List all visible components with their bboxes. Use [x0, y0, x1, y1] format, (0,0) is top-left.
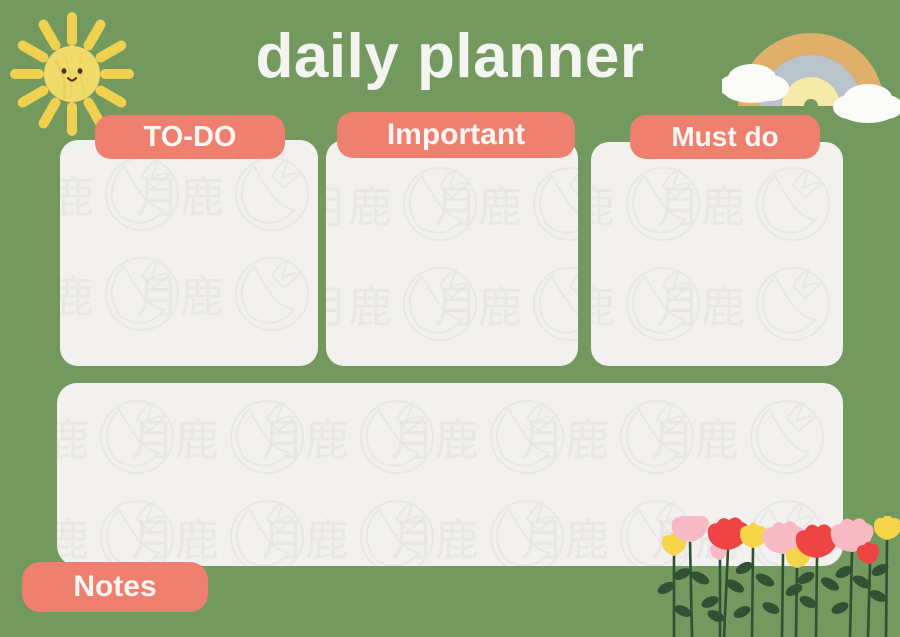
svg-text:月鹿: 月鹿 [57, 416, 89, 465]
svg-text:月鹿: 月鹿 [657, 283, 745, 332]
section-label-important[interactable]: Important [337, 112, 575, 158]
svg-text:月鹿: 月鹿 [391, 516, 479, 565]
svg-text:月鹿: 月鹿 [591, 183, 615, 232]
watermark-layer: 月鹿 月鹿 [326, 140, 578, 366]
section-label-todo[interactable]: TO-DO [95, 115, 285, 159]
svg-text:月鹿: 月鹿 [326, 283, 392, 332]
svg-text:月鹿: 月鹿 [434, 283, 522, 332]
svg-text:月鹿: 月鹿 [57, 516, 89, 565]
svg-text:月鹿: 月鹿 [657, 183, 745, 232]
svg-text:月鹿: 月鹿 [60, 273, 94, 322]
watermark-layer: 月鹿 月鹿 [591, 142, 843, 366]
watermark-layer: 月鹿 月鹿 [60, 140, 318, 366]
svg-text:月鹿: 月鹿 [591, 283, 615, 332]
svg-text:月鹿: 月鹿 [521, 516, 609, 565]
svg-text:月鹿: 月鹿 [136, 173, 224, 222]
svg-text:月鹿: 月鹿 [521, 416, 609, 465]
section-label-notes[interactable]: Notes [22, 562, 208, 612]
svg-text:月鹿: 月鹿 [651, 516, 739, 565]
svg-text:月鹿: 月鹿 [60, 173, 94, 222]
svg-text:月鹿: 月鹿 [136, 273, 224, 322]
svg-text:月鹿: 月鹿 [326, 183, 392, 232]
watermark-layer: 月鹿 月鹿 [57, 383, 843, 566]
svg-text:月鹿: 月鹿 [261, 516, 349, 565]
card-mustdo[interactable]: 月鹿 月鹿 [591, 142, 843, 366]
page-title: daily planner [0, 26, 900, 88]
card-notes[interactable]: 月鹿 月鹿 [57, 383, 843, 566]
svg-text:月鹿: 月鹿 [391, 416, 479, 465]
daily-planner-page: daily planner [0, 0, 900, 637]
svg-text:月鹿: 月鹿 [261, 416, 349, 465]
svg-text:月鹿: 月鹿 [434, 183, 522, 232]
svg-text:月鹿: 月鹿 [131, 516, 219, 565]
card-important[interactable]: 月鹿 月鹿 [326, 140, 578, 366]
card-todo[interactable]: 月鹿 月鹿 [60, 140, 318, 366]
svg-text:月鹿: 月鹿 [131, 416, 219, 465]
svg-text:月鹿: 月鹿 [651, 416, 739, 465]
section-label-mustdo[interactable]: Must do [630, 115, 820, 159]
